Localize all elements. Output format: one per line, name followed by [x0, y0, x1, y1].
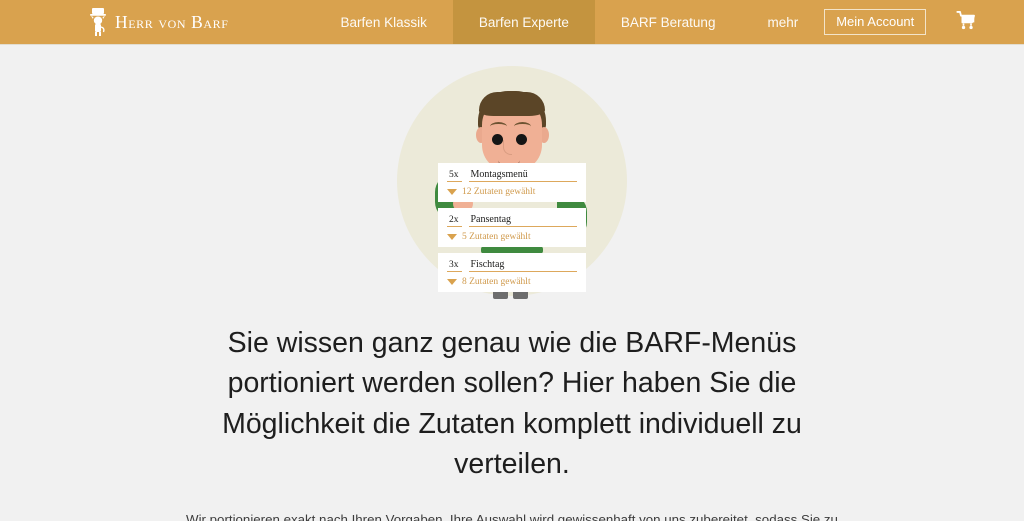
menu-card[interactable]: 3x Fischtag 8 Zutaten gewählt [438, 253, 586, 292]
caret-down-icon [447, 189, 457, 195]
nav-item-barfen-klassik[interactable]: Barfen Klassik [315, 0, 453, 44]
site-header: Herr von Barf Barfen Klassik Barfen Expe… [0, 0, 1024, 45]
menu-ingredients-toggle[interactable]: 12 Zutaten gewählt [447, 184, 577, 197]
menu-ingredients-label: 5 Zutaten gewählt [462, 232, 531, 242]
menu-card[interactable]: 2x Pansentag 5 Zutaten gewählt [438, 208, 586, 247]
menu-card-stack: 5x Montagsmenü 12 Zutaten gewählt 2x Pan… [438, 163, 586, 292]
person-right-eye [516, 134, 527, 145]
nav-item-barfen-experte[interactable]: Barfen Experte [453, 0, 595, 44]
caret-down-icon [447, 234, 457, 240]
menu-title: Montagsmenü [469, 169, 578, 182]
caret-down-icon [447, 279, 457, 285]
person-left-eye [492, 134, 503, 145]
hero-subtext: Wir portionieren exakt nach Ihren Vorgab… [167, 509, 857, 521]
menu-quantity: 5x [447, 170, 462, 182]
menu-card-header: 3x Fischtag [447, 259, 577, 274]
menu-card-header: 5x Montagsmenü [447, 169, 577, 184]
nav-item-barf-beratung[interactable]: BARF Beratung [595, 0, 742, 44]
person-fringe [479, 92, 545, 116]
menu-ingredients-label: 8 Zutaten gewählt [462, 277, 531, 287]
menu-card[interactable]: 5x Montagsmenü 12 Zutaten gewählt [438, 163, 586, 202]
my-account-button[interactable]: Mein Account [824, 9, 926, 35]
nav-item-mehr[interactable]: mehr [741, 0, 824, 44]
hero-illustration: 5x Montagsmenü 12 Zutaten gewählt 2x Pan… [397, 66, 627, 296]
hero-section: 5x Montagsmenü 12 Zutaten gewählt 2x Pan… [0, 45, 1024, 521]
menu-ingredients-label: 12 Zutaten gewählt [462, 187, 535, 197]
dog-with-tophat-icon [88, 7, 108, 37]
brand-logo-link[interactable]: Herr von Barf [0, 0, 249, 44]
menu-title: Fischtag [469, 259, 578, 272]
main-navigation: Barfen Klassik Barfen Experte BARF Berat… [315, 0, 825, 44]
person-left-eyebrow [490, 122, 507, 131]
menu-ingredients-toggle[interactable]: 8 Zutaten gewählt [447, 274, 577, 287]
menu-ingredients-toggle[interactable]: 5 Zutaten gewählt [447, 229, 577, 242]
menu-quantity: 2x [447, 215, 462, 227]
hero-heading: Sie wissen ganz genau wie die BARF-Menüs… [162, 323, 862, 485]
header-actions: Mein Account [824, 0, 1024, 44]
menu-card-header: 2x Pansentag [447, 214, 577, 229]
brand-name: Herr von Barf [115, 12, 229, 33]
person-right-eyebrow [514, 122, 531, 131]
shopping-cart-icon [956, 10, 977, 34]
cart-button[interactable] [956, 10, 977, 34]
menu-title: Pansentag [469, 214, 578, 227]
menu-quantity: 3x [447, 260, 462, 272]
